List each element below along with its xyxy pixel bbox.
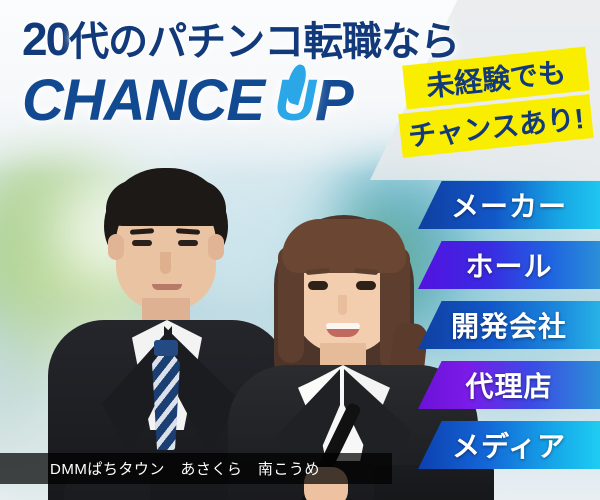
banner-ad[interactable]: 20代のパチンコ転職なら CHANCEUP 未経験でも チャンスあり! メーカー… — [0, 0, 600, 500]
menu-item-development-company[interactable]: 開発会社 — [418, 301, 600, 349]
menu-item-label: メディア — [452, 425, 566, 465]
category-menu: メーカー ホール 開発会社 代理店 メディア — [0, 0, 600, 500]
caption-band: DMMぱちタウン あさくら 南こうめ — [0, 453, 392, 484]
menu-item-label: メーカー — [451, 185, 567, 225]
menu-item-label: ホール — [465, 245, 552, 285]
menu-item-media[interactable]: メディア — [418, 421, 600, 469]
menu-item-agency[interactable]: 代理店 — [418, 361, 600, 409]
menu-item-maker[interactable]: メーカー — [418, 181, 600, 229]
menu-item-label: 代理店 — [465, 365, 552, 405]
menu-item-label: 開発会社 — [451, 305, 567, 345]
menu-item-hall[interactable]: ホール — [418, 241, 600, 289]
caption-text: DMMぱちタウン あさくら 南こうめ — [50, 458, 320, 479]
